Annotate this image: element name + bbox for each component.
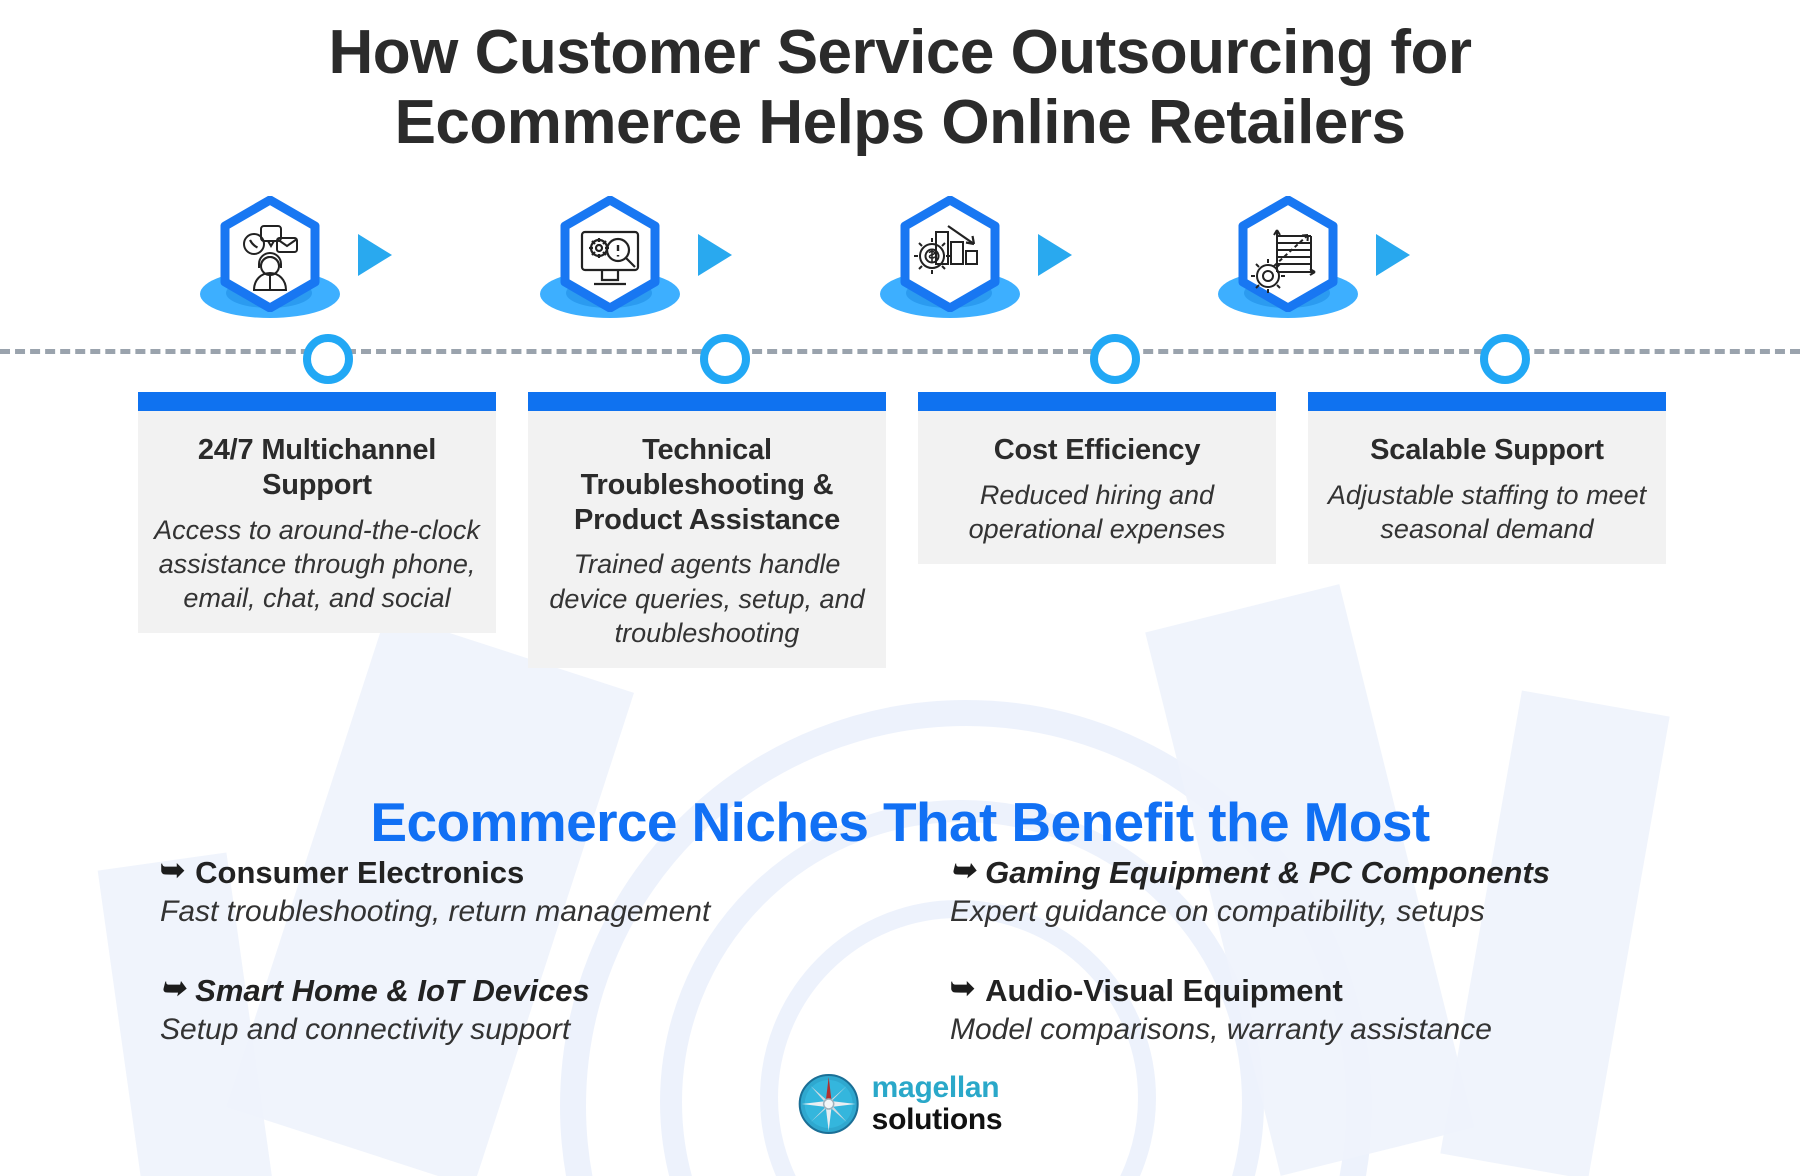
card-title: Scalable Support [1324, 433, 1650, 468]
monitor-gear-search-icon [558, 196, 662, 312]
step-card-1: 24/7 Multichannel Support Access to arou… [138, 392, 496, 633]
card-description: Reduced hiring and operational expenses [934, 478, 1260, 547]
brand-name-bottom: solutions [872, 1105, 1003, 1135]
step-card-2: Technical Troubleshooting & Product Assi… [528, 392, 886, 668]
niche-description: Expert guidance on compatibility, setups [950, 895, 1690, 929]
customer-support-channels-icon [218, 196, 322, 312]
card-description: Trained agents handle device queries, se… [544, 547, 870, 650]
card-description: Access to around-the-clock assistance th… [154, 513, 480, 616]
niche-item-4: ➥ Audio-Visual Equipment Model compariso… [950, 973, 1690, 1047]
card-title: 24/7 Multichannel Support [154, 433, 480, 503]
step-card-3: Cost Efficiency Reduced hiring and opera… [918, 392, 1276, 564]
chevron-right-icon [1038, 234, 1072, 276]
card-top-bar [528, 392, 886, 411]
niche-title: Consumer Electronics [195, 855, 524, 891]
niche-item-2: ➥ Gaming Equipment & PC Components Exper… [950, 855, 1690, 929]
niche-item-3: ➥ Smart Home & IoT Devices Setup and con… [160, 973, 950, 1047]
brand-logo: magellan solutions [798, 1073, 1003, 1135]
curved-arrow-icon: ➥ [950, 974, 975, 1004]
curved-arrow-icon: ➥ [950, 856, 975, 886]
niche-description: Model comparisons, warranty assistance [950, 1013, 1690, 1047]
compass-rose-icon [798, 1073, 860, 1135]
niche-item-1: ➥ Consumer Electronics Fast troubleshoot… [160, 855, 950, 929]
niche-title-row: ➥ Gaming Equipment & PC Components [950, 855, 1690, 891]
niche-title: Smart Home & IoT Devices [195, 973, 590, 1009]
brand-name-top: magellan [872, 1073, 1003, 1103]
title-line-2: Ecommerce Helps Online Retailers [0, 88, 1800, 158]
card-title: Technical Troubleshooting & Product Assi… [544, 433, 870, 537]
chevron-right-icon [358, 234, 392, 276]
niches-heading: Ecommerce Niches That Benefit the Most [0, 790, 1800, 854]
niche-title: Audio-Visual Equipment [985, 973, 1343, 1009]
chevron-right-icon [1376, 234, 1410, 276]
niche-title-row: ➥ Consumer Electronics [160, 855, 950, 891]
step-icon-1 [190, 196, 360, 336]
curved-arrow-icon: ➥ [160, 856, 185, 886]
card-top-bar [1308, 392, 1666, 411]
niche-description: Setup and connectivity support [160, 1013, 950, 1047]
niches-grid: ➥ Consumer Electronics Fast troubleshoot… [160, 855, 1690, 1047]
niche-description: Fast troubleshooting, return management [160, 895, 950, 929]
step-icon-2 [530, 196, 700, 336]
niche-title: Gaming Equipment & PC Components [985, 855, 1550, 891]
step-icon-4 [1208, 196, 1378, 336]
card-description: Adjustable staffing to meet seasonal dem… [1324, 478, 1650, 547]
timeline-node-2 [700, 334, 750, 384]
page-title: How Customer Service Outsourcing for Eco… [0, 18, 1800, 158]
timeline-node-1 [303, 334, 353, 384]
card-top-bar [138, 392, 496, 411]
niche-title-row: ➥ Smart Home & IoT Devices [160, 973, 950, 1009]
scalable-growth-gear-icon [1236, 196, 1340, 312]
timeline-node-3 [1090, 334, 1140, 384]
title-line-1: How Customer Service Outsourcing for [0, 18, 1800, 88]
card-title: Cost Efficiency [934, 433, 1260, 468]
timeline-dashed-line [0, 349, 1800, 354]
card-top-bar [918, 392, 1276, 411]
chevron-right-icon [698, 234, 732, 276]
curved-arrow-icon: ➥ [160, 974, 185, 1004]
declining-cost-chart-icon [898, 196, 1002, 312]
niche-title-row: ➥ Audio-Visual Equipment [950, 973, 1690, 1009]
step-card-4: Scalable Support Adjustable staffing to … [1308, 392, 1666, 564]
timeline-node-4 [1480, 334, 1530, 384]
step-icon-3 [870, 196, 1040, 336]
brand-wordmark: magellan solutions [872, 1073, 1003, 1135]
